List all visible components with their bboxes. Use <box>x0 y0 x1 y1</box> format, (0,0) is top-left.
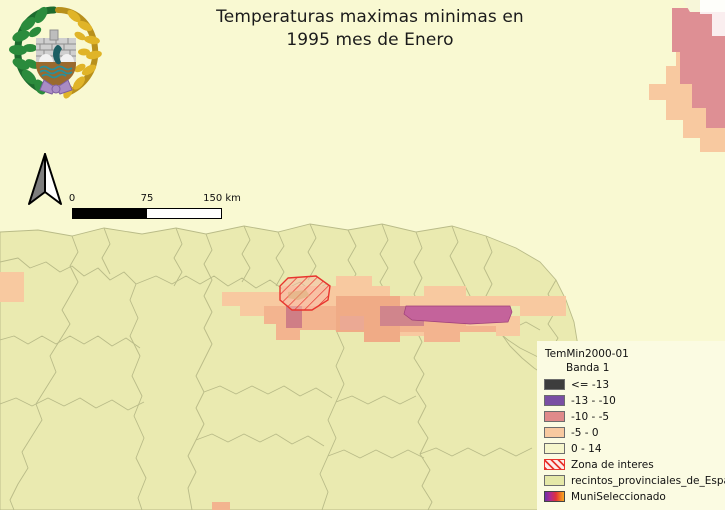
legend-label-class-3: -5 - 0 <box>571 427 599 439</box>
legend-label-recintos-provinciales: recintos_provinciales_de_España <box>571 475 725 487</box>
legend-item-class-1[interactable]: -13 - -10 <box>544 393 725 408</box>
scale-bar-graphic <box>72 208 222 219</box>
legend-swatch-class-2 <box>544 411 565 422</box>
legend-label-muni-seleccionado: MuniSeleccionado <box>571 491 666 503</box>
north-arrow-icon <box>25 152 65 208</box>
legend-raster-title: TemMin2000-01 <box>545 348 725 360</box>
coat-of-arms-emblem <box>8 2 104 102</box>
legend-item-class-2[interactable]: -10 - -5 <box>544 409 725 424</box>
legend-item-zona-de-interes[interactable]: Zona de interes <box>544 457 725 472</box>
legend-label-class-1: -13 - -10 <box>571 395 616 407</box>
scale-tick-0: 0 <box>69 193 75 204</box>
scale-segment-light <box>147 209 221 218</box>
raster-region-west-edge <box>0 272 24 302</box>
legend-item-class-0[interactable]: <= -13 <box>544 377 725 392</box>
scale-tick-150: 150 km <box>203 193 241 204</box>
scale-bar: 0 75 150 km <box>72 193 222 219</box>
legend-swatch-class-3 <box>544 427 565 438</box>
scale-bar-labels: 0 75 150 km <box>72 193 222 208</box>
legend-swatch-class-4 <box>544 443 565 454</box>
legend-raster-band: Banda 1 <box>566 362 725 374</box>
legend-swatch-class-0 <box>544 379 565 390</box>
legend-swatch-zona-de-interes <box>544 459 565 470</box>
legend-label-zona-de-interes: Zona de interes <box>571 459 654 471</box>
map-canvas[interactable]: Temperaturas maximas minimas en 1995 mes… <box>0 0 725 510</box>
scale-tick-75: 75 <box>141 193 154 204</box>
legend-swatch-recintos-provinciales <box>544 475 565 486</box>
legend-swatch-class-1 <box>544 395 565 406</box>
legend-swatch-muni-seleccionado <box>544 491 565 502</box>
legend-item-class-3[interactable]: -5 - 0 <box>544 425 725 440</box>
legend-label-class-4: 0 - 14 <box>571 443 602 455</box>
legend-label-class-2: -10 - -5 <box>571 411 609 423</box>
title-line-1: Temperaturas maximas minimas en <box>150 6 590 29</box>
legend-item-recintos-provinciales[interactable]: recintos_provinciales_de_España <box>544 473 725 488</box>
page-title: Temperaturas maximas minimas en 1995 mes… <box>150 6 590 52</box>
legend-label-class-0: <= -13 <box>571 379 609 391</box>
layer-recintos-provinciales <box>0 224 578 510</box>
legend-item-muni-seleccionado[interactable]: MuniSeleccionado <box>544 489 725 504</box>
title-line-2: 1995 mes de Enero <box>150 29 590 52</box>
scale-segment-dark <box>73 209 147 218</box>
legend-item-class-4[interactable]: 0 - 14 <box>544 441 725 456</box>
raster-region-south-edge <box>212 502 230 510</box>
map-legend[interactable]: TemMin2000-01 Banda 1 <= -13 -13 - -10 -… <box>537 341 725 510</box>
